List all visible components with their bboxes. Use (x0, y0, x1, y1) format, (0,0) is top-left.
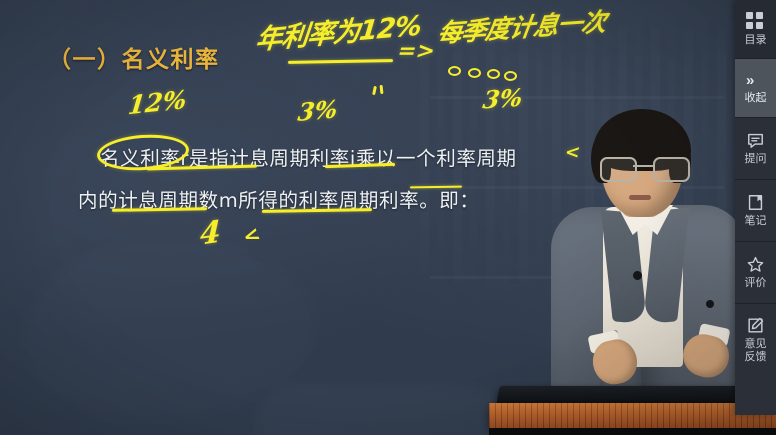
sidebar-item-feedback-label-line1: 意见 (745, 337, 767, 350)
sidebar-item-rating[interactable]: 评价 (735, 242, 776, 304)
sidebar-item-rating-label: 评价 (745, 277, 767, 290)
sidebar-item-collapse-label: 收起 (745, 92, 767, 105)
vignette-overlay (0, 0, 776, 435)
sidebar-item-catalog[interactable]: 目录 (735, 0, 776, 59)
player-side-toolbar: 目录 » 收起 提问 (735, 0, 776, 415)
chat-bubble-icon (746, 131, 765, 150)
sidebar-item-collapse[interactable]: » 收起 (735, 59, 776, 118)
star-icon (746, 255, 765, 274)
notebook-icon (746, 193, 765, 212)
video-player-stage: （一）名义利率 名义利率r是指计息周期利率i乘以一个利率周期 内的计息周期数m所… (0, 0, 776, 435)
sidebar-item-notes-label: 笔记 (745, 215, 767, 228)
sidebar-item-feedback[interactable]: 意见 反馈 (735, 304, 776, 375)
sidebar-item-notes[interactable]: 笔记 (735, 180, 776, 242)
sidebar-item-ask[interactable]: 提问 (735, 118, 776, 180)
grid-icon (746, 12, 765, 31)
pencil-square-icon (746, 316, 765, 335)
sidebar-item-feedback-label-line2: 反馈 (745, 350, 767, 363)
sidebar-item-catalog-label: 目录 (745, 34, 767, 47)
sidebar-item-feedback-label: 意见 反馈 (745, 338, 767, 363)
sidebar-item-ask-label: 提问 (745, 153, 767, 166)
chevron-right-double-icon: » (746, 72, 765, 89)
